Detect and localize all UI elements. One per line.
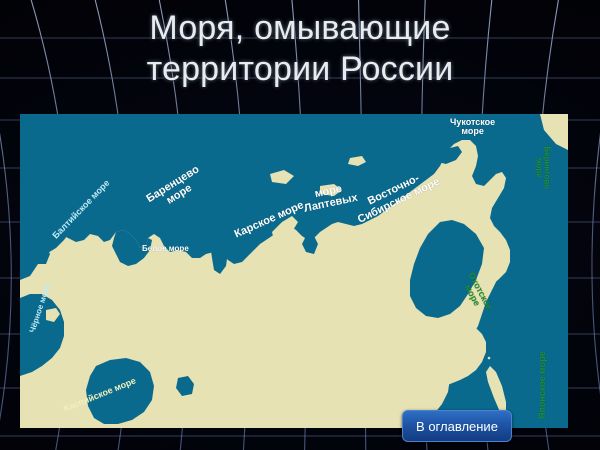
- slide-title: Моря, омывающие территории России: [0, 8, 600, 90]
- russia-landmass-icon: [20, 114, 568, 428]
- russia-seas-map: Балтийское море Баренцево море Белое мор…: [20, 114, 568, 428]
- presentation-slide: Моря, омывающие территории России: [0, 0, 600, 450]
- table-of-contents-button[interactable]: В оглавление: [402, 410, 512, 442]
- table-of-contents-button-label: В оглавление: [416, 419, 498, 434]
